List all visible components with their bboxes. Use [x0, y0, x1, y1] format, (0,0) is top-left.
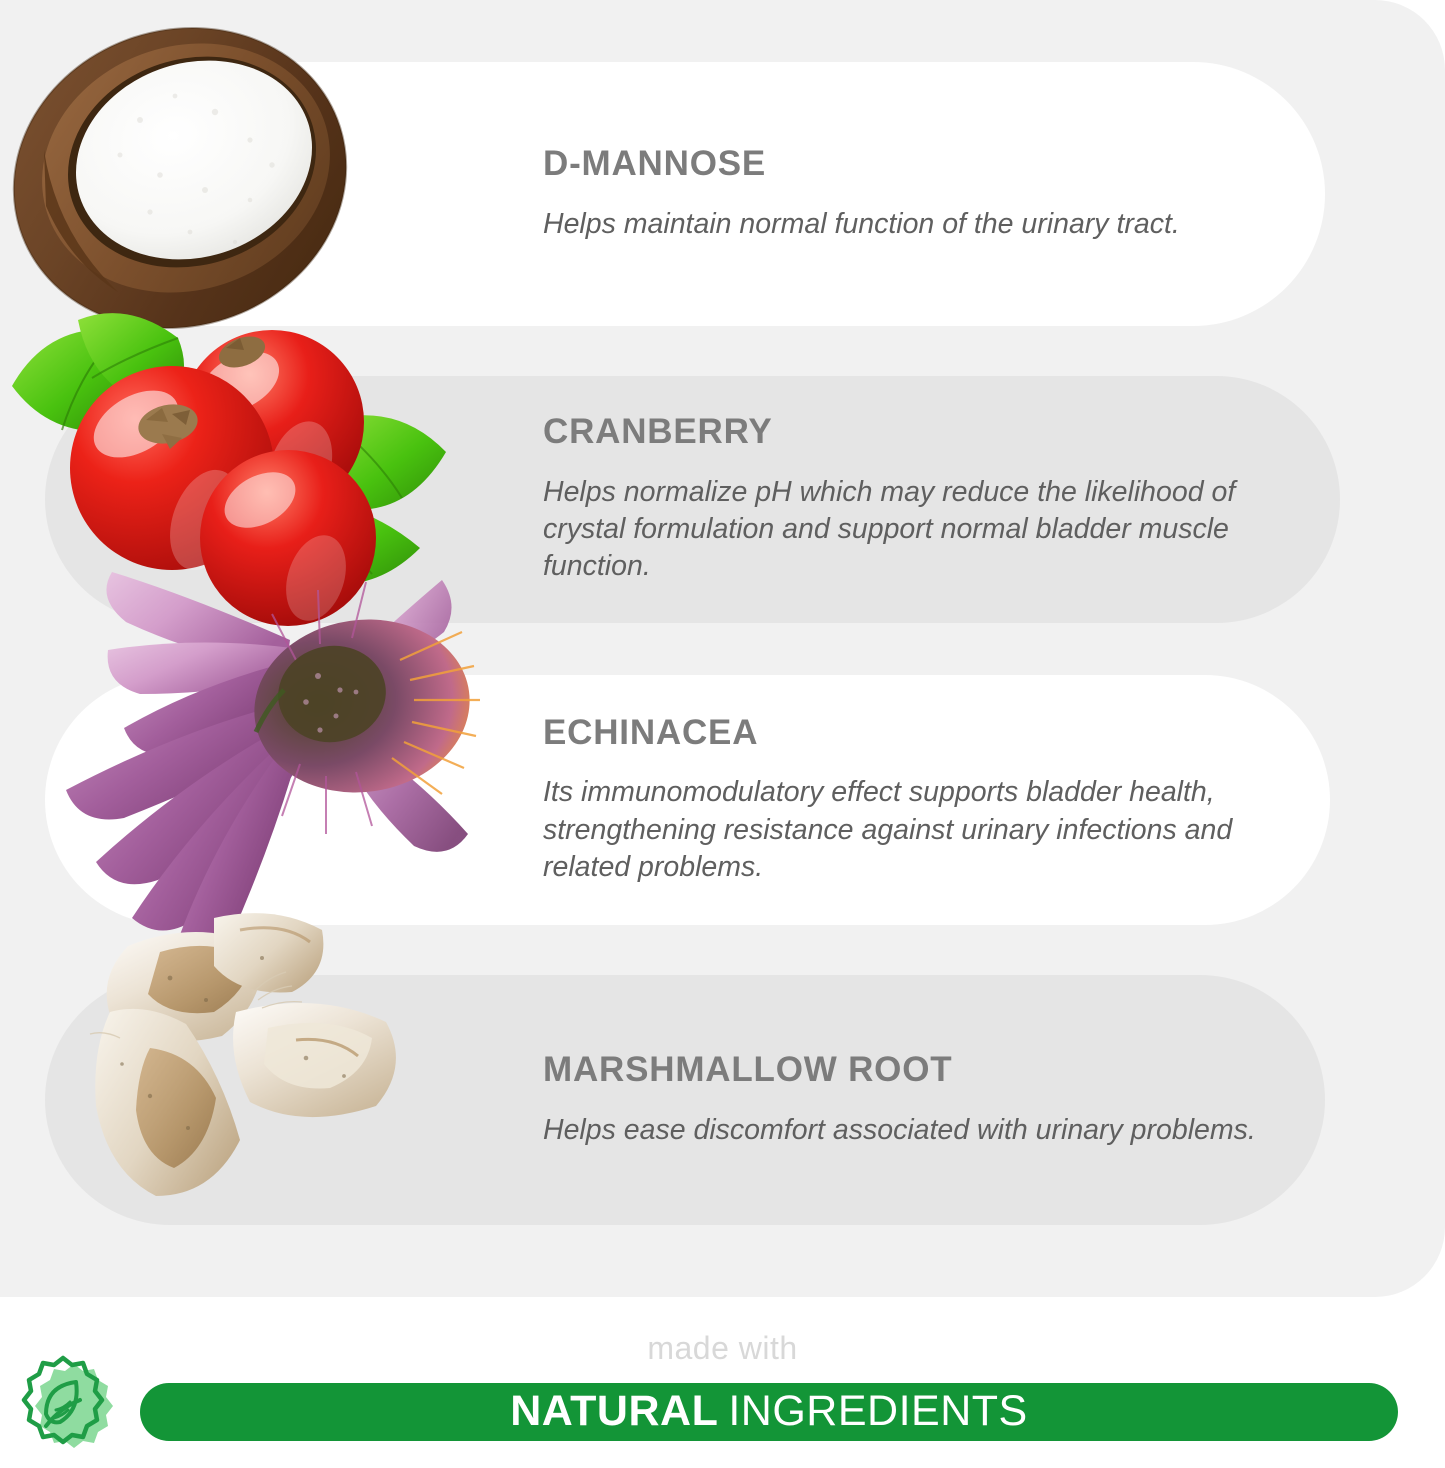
ingredient-card-cranberry: CRANBERRY Helps normalize pH which may r… [45, 376, 1340, 623]
banner-text: NATURALINGREDIENTS [510, 1390, 1027, 1433]
ingredient-card-marshmallow-root: MARSHMALLOW ROOT Helps ease discomfort a… [45, 975, 1325, 1225]
ingredient-description: Helps maintain normal function of the ur… [543, 206, 1273, 243]
ingredient-description: Its immunomodulatory effect supports bla… [543, 774, 1273, 886]
banner-light-text: INGREDIENTS [728, 1387, 1027, 1435]
ingredient-card-d-mannose: D-MANNOSE Helps maintain normal function… [45, 62, 1325, 326]
infographic-root: D-MANNOSE Helps maintain normal function… [0, 0, 1445, 1468]
made-with-label: made with [0, 1330, 1445, 1367]
ingredient-title: CRANBERRY [543, 413, 1300, 452]
banner-strong-text: NATURAL [510, 1387, 718, 1435]
ingredient-description: Helps ease discomfort associated with ur… [543, 1112, 1273, 1149]
ingredient-description: Helps normalize pH which may reduce the … [543, 474, 1273, 586]
ingredient-title: D-MANNOSE [543, 145, 1285, 184]
ingredient-title: MARSHMALLOW ROOT [543, 1051, 1285, 1090]
ingredient-title: ECHINACEA [543, 714, 1290, 753]
leaf-badge-icon [8, 1352, 126, 1468]
ingredient-card-echinacea: ECHINACEA Its immunomodulatory effect su… [45, 675, 1330, 925]
natural-ingredients-banner: NATURALINGREDIENTS [140, 1383, 1398, 1441]
